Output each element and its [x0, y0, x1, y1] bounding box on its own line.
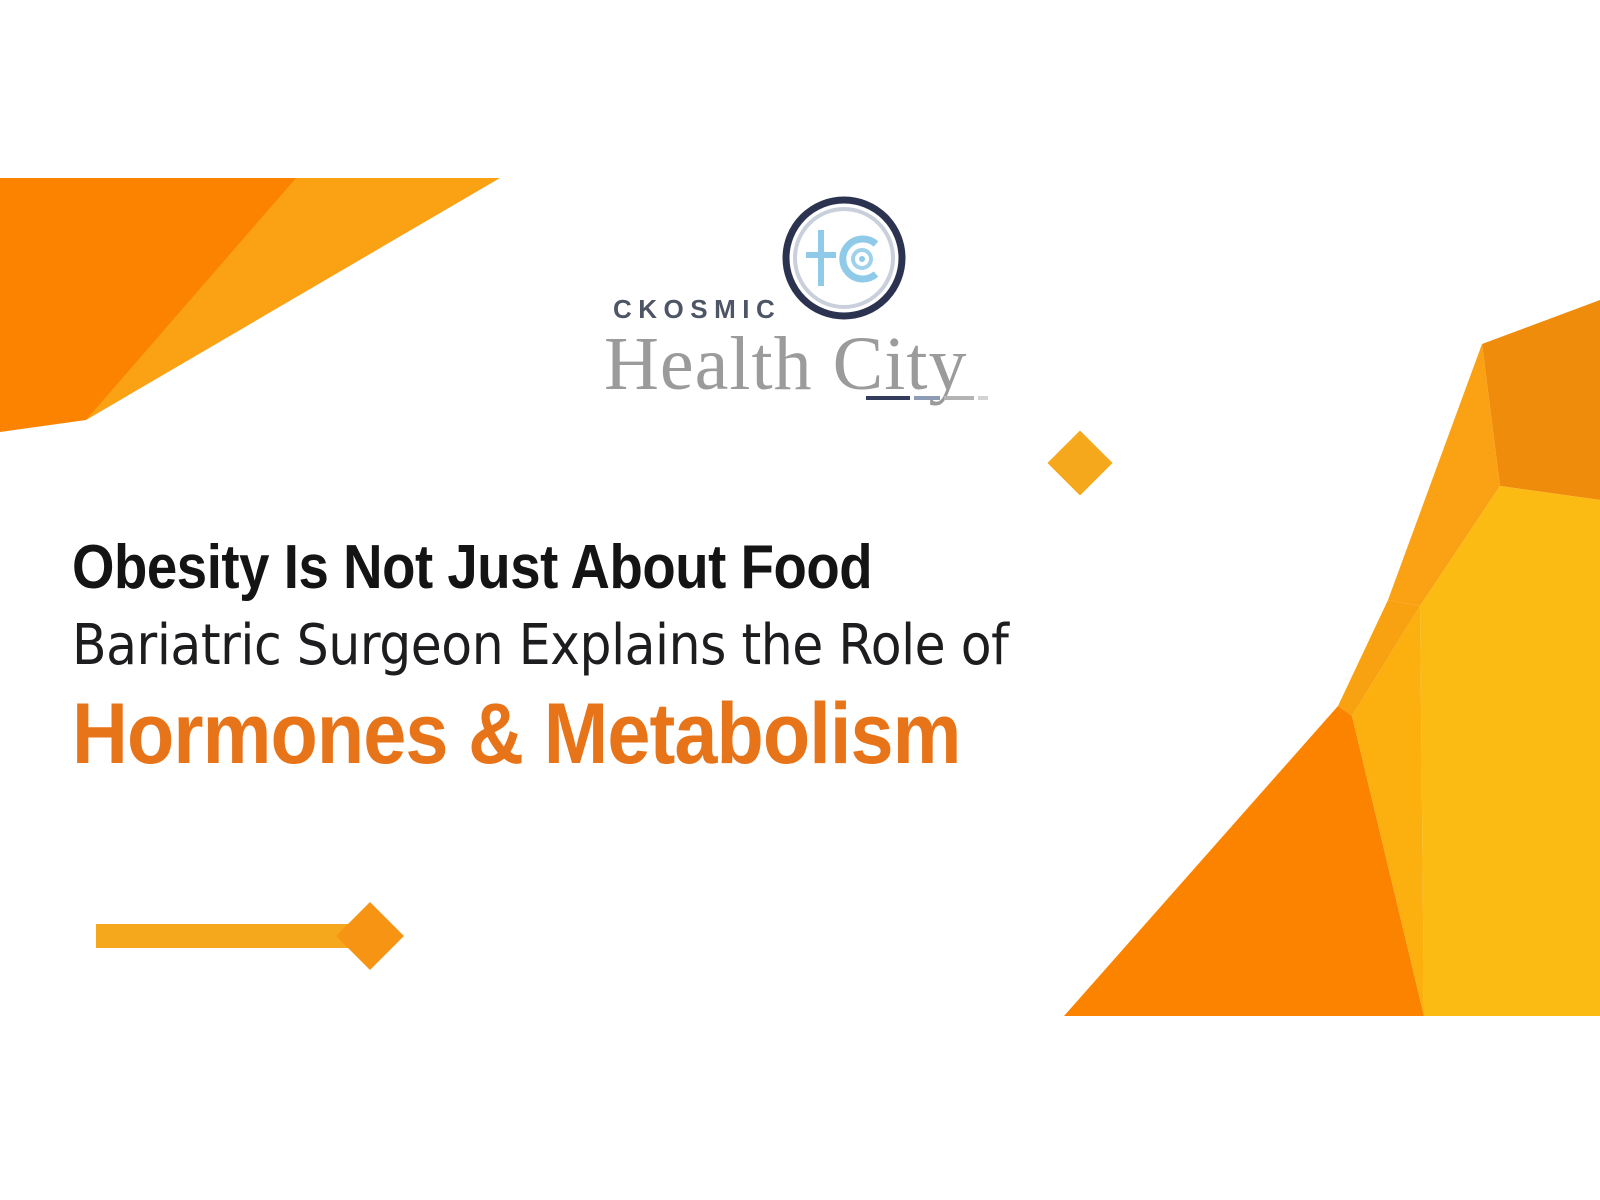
brand-name-main: Health City: [604, 326, 968, 402]
promotional-banner: CKOSMIC Health City Obesity Is Not Just …: [0, 0, 1600, 1200]
headline-line-2: Bariatric Surgeon Explains the Role of: [72, 615, 1134, 677]
brand-logo: CKOSMIC Health City: [596, 196, 1016, 416]
hc-monogram-circle-icon: [782, 196, 906, 320]
headline-group: Obesity Is Not Just About Food Bariatric…: [72, 536, 1252, 777]
headline-line-3: Hormones & Metabolism: [72, 691, 1134, 777]
brand-name-top: CKOSMIC: [613, 296, 781, 322]
headline-line-1: Obesity Is Not Just About Food: [72, 536, 1110, 599]
arrow-bar-diamond-icon: [96, 898, 432, 974]
segmented-underline-divider: [866, 395, 992, 401]
